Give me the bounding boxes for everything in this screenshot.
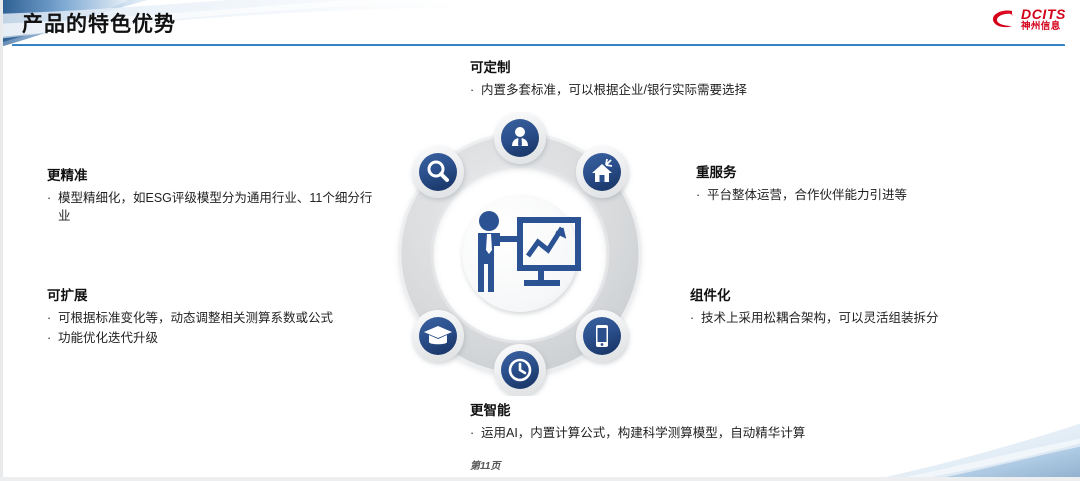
bullet-marker: · bbox=[47, 189, 58, 225]
feature-block-extensible: 可扩展 · 可根据标准变化等，动态调整相关测算系数或公式 · 功能优化迭代升级 bbox=[47, 288, 377, 347]
bullet-text: 技术上采用松耦合架构，可以灵活组装拆分 bbox=[701, 309, 1030, 327]
feature-bullet: · 技术上采用松耦合架构，可以灵活组装拆分 bbox=[690, 309, 1030, 327]
feature-title: 可定制 bbox=[470, 60, 890, 77]
slide-bottom-edge bbox=[0, 477, 1080, 481]
bullet-marker: · bbox=[47, 329, 58, 347]
logo-subtitle: 神州信息 bbox=[1021, 22, 1066, 32]
bullet-text: 可根据标准变化等，动态调整相关测算系数或公式 bbox=[58, 309, 377, 327]
brand-logo: DCITS 神州信息 bbox=[990, 7, 1066, 32]
bullet-text: 内置多套标准，可以根据企业/银行实际需要选择 bbox=[481, 81, 890, 99]
hub-node-businessman[interactable] bbox=[494, 112, 546, 164]
page-number: 第11页 bbox=[470, 457, 500, 472]
bullet-text: 平台整体运营，合作伙伴能力引进等 bbox=[707, 186, 1026, 204]
bullet-marker: · bbox=[696, 186, 707, 204]
footer-swoosh-decoration bbox=[848, 415, 1080, 481]
bullet-marker: · bbox=[47, 309, 58, 327]
feature-bullet: · 模型精细化，如ESG评级模型分为通用行业、11个细分行业 bbox=[47, 189, 377, 225]
logo-name: DCITS bbox=[1021, 7, 1066, 21]
bullet-text: 功能优化迭代升级 bbox=[58, 329, 377, 347]
header-divider bbox=[12, 44, 1065, 46]
feature-bullet: · 可根据标准变化等，动态调整相关测算系数或公式 bbox=[47, 309, 377, 327]
feature-block-modular: 组件化 · 技术上采用松耦合架构，可以灵活组装拆分 bbox=[690, 288, 1030, 327]
feature-bullet: · 功能优化迭代升级 bbox=[47, 329, 377, 347]
page-title: 产品的特色优势 bbox=[22, 8, 176, 38]
slide-header: 产品的特色优势 DCITS 神州信息 bbox=[0, 0, 1080, 46]
hub-node-magnifier[interactable] bbox=[412, 146, 464, 198]
slide-left-edge bbox=[0, 0, 3, 481]
feature-title: 重服务 bbox=[696, 165, 1026, 182]
hub-node-mobile-phone[interactable] bbox=[576, 310, 628, 362]
feature-block-accurate: 更精准 · 模型精细化，如ESG评级模型分为通用行业、11个细分行业 bbox=[47, 168, 377, 225]
bullet-text: 模型精细化，如ESG评级模型分为通用行业、11个细分行业 bbox=[58, 189, 377, 225]
dcits-swirl-icon bbox=[990, 7, 1016, 31]
mobile-phone-icon bbox=[596, 325, 608, 347]
feature-block-service: 重服务 · 平台整体运营，合作伙伴能力引进等 bbox=[696, 165, 1026, 204]
feature-title: 组件化 bbox=[690, 288, 1030, 305]
hub-node-smart-home[interactable] bbox=[576, 146, 628, 198]
bullet-marker: · bbox=[690, 309, 701, 327]
feature-hub-diagram bbox=[378, 112, 662, 396]
feature-bullet: · 内置多套标准，可以根据企业/银行实际需要选择 bbox=[470, 81, 890, 99]
feature-block-customizable: 可定制 · 内置多套标准，可以根据企业/银行实际需要选择 bbox=[470, 60, 890, 99]
bullet-marker: · bbox=[470, 81, 481, 99]
slide: 产品的特色优势 DCITS 神州信息 bbox=[0, 0, 1080, 481]
hub-node-clock[interactable] bbox=[494, 344, 546, 396]
hub-center bbox=[462, 196, 578, 312]
feature-bullet: · 平台整体运营，合作伙伴能力引进等 bbox=[696, 186, 1026, 204]
hub-node-graduation-cap[interactable] bbox=[412, 310, 464, 362]
bullet-marker: · bbox=[470, 424, 481, 442]
feature-title: 更精准 bbox=[47, 168, 377, 185]
feature-title: 可扩展 bbox=[47, 288, 377, 305]
